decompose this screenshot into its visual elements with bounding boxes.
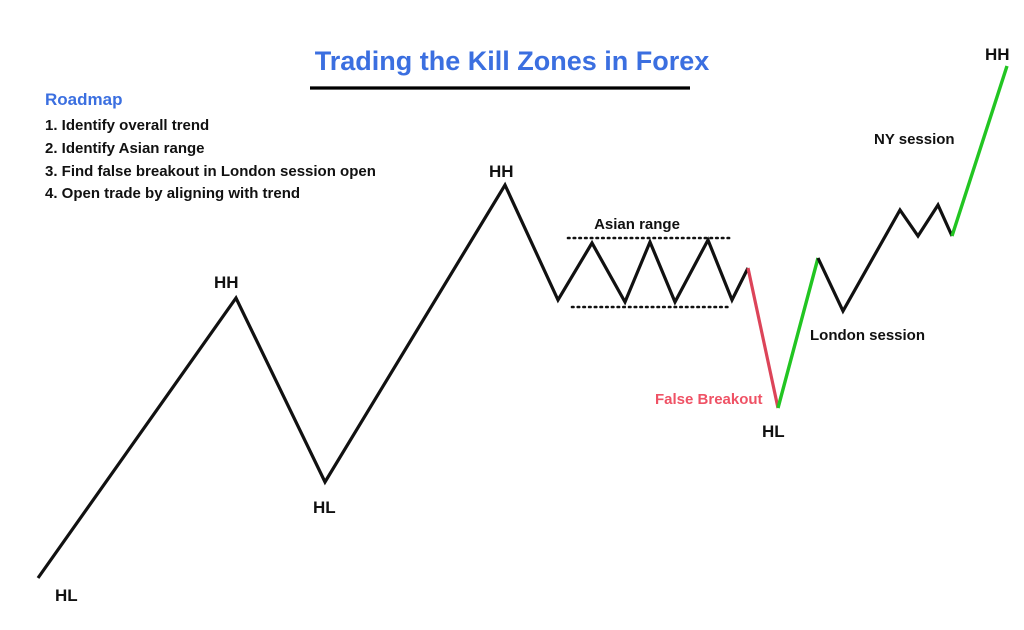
swing-label-hl-2: HL xyxy=(313,498,336,517)
price-action-chart: Trading the Kill Zones in Forex Roadmap … xyxy=(0,0,1024,630)
price-line-uptrend-and-asian-range xyxy=(38,185,748,578)
page-title: Trading the Kill Zones in Forex xyxy=(315,46,710,76)
roadmap-item-1: 1. Identify overall trend xyxy=(45,117,209,134)
roadmap-item-2: 2. Identify Asian range xyxy=(45,140,205,157)
price-line-false-breakout xyxy=(748,268,778,408)
swing-label-hh-3: HH xyxy=(985,45,1010,64)
swing-label-hh-1: HH xyxy=(214,273,239,292)
roadmap-item-3: 3. Find false breakout in London session… xyxy=(45,163,376,180)
roadmap-heading: Roadmap xyxy=(45,90,122,109)
roadmap-item-4: 4. Open trade by aligning with trend xyxy=(45,185,300,202)
ny-session-label: NY session xyxy=(874,131,955,148)
swing-label-hl-1: HL xyxy=(55,586,78,605)
false-breakout-label: False Breakout xyxy=(655,391,763,408)
asian-range-label: Asian range xyxy=(594,216,680,233)
swing-label-hl-3: HL xyxy=(762,422,785,441)
diagram-canvas: Trading the Kill Zones in Forex Roadmap … xyxy=(0,0,1024,630)
swing-label-hh-2: HH xyxy=(489,162,514,181)
price-line-london-pullback xyxy=(818,205,952,311)
london-session-label: London session xyxy=(810,327,925,344)
price-line-ny-impulse xyxy=(952,66,1007,236)
